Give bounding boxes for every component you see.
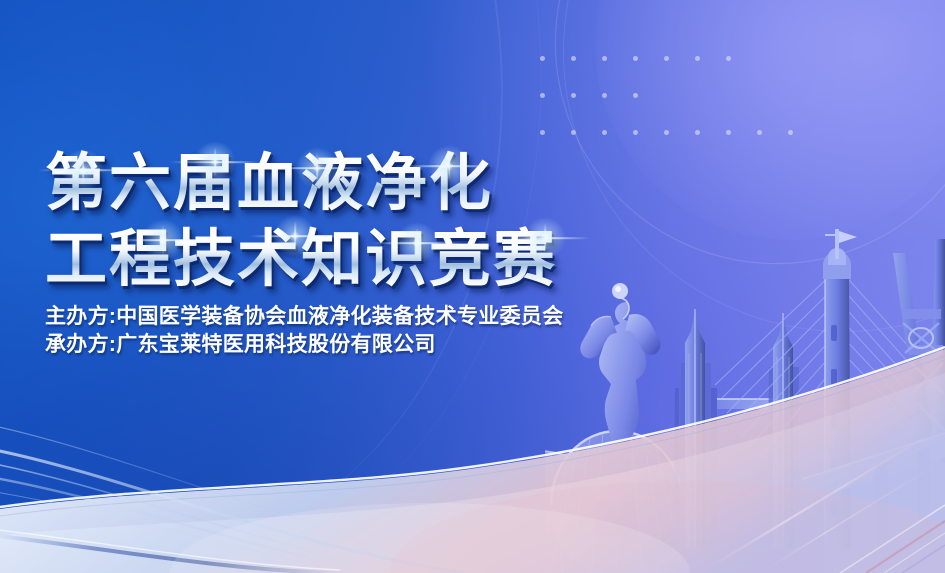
title-line-2: 工程技术知识竞赛: [45, 224, 685, 296]
grid-dot: [571, 130, 576, 135]
cable-stayed-bridge: [715, 229, 945, 549]
grid-dot: [602, 93, 607, 98]
grid-dot: [664, 56, 669, 61]
grid-dot: [571, 93, 576, 98]
grid-dot: [540, 93, 545, 98]
poster-title: 第六届血液净化 工程技术知识竞赛: [45, 148, 685, 296]
grid-dot: [571, 56, 576, 61]
grid-dot: [540, 56, 545, 61]
grid-dot: [633, 56, 638, 61]
title-line-1: 第六届血液净化: [45, 148, 685, 220]
grid-dot: [664, 130, 669, 135]
grid-dot: [695, 56, 700, 61]
organizer-line: 主办方:中国医学装备协会血液净化装备技术专业委员会: [45, 303, 564, 331]
grid-dot: [602, 56, 607, 61]
poster-subtitle: 主办方:中国医学装备协会血液净化装备技术专业委员会 承办方:广东宝莱特医用科技股…: [45, 303, 564, 359]
co-organizer-line: 承办方:广东宝莱特医用科技股份有限公司: [45, 331, 564, 359]
grid-dot: [633, 93, 638, 98]
grid-dot: [695, 130, 700, 135]
grid-dot: [633, 130, 638, 135]
grid-dot: [788, 130, 793, 135]
grid-dot: [726, 56, 731, 61]
grid-dot: [757, 130, 762, 135]
grid-dot: [540, 130, 545, 135]
grid-dot: [726, 130, 731, 135]
event-poster-banner: 第六届血液净化 工程技术知识竞赛 主办方:中国医学装备协会血液净化装备技术专业委…: [0, 0, 945, 573]
twin-towers: [673, 309, 799, 549]
grid-dot: [602, 130, 607, 135]
